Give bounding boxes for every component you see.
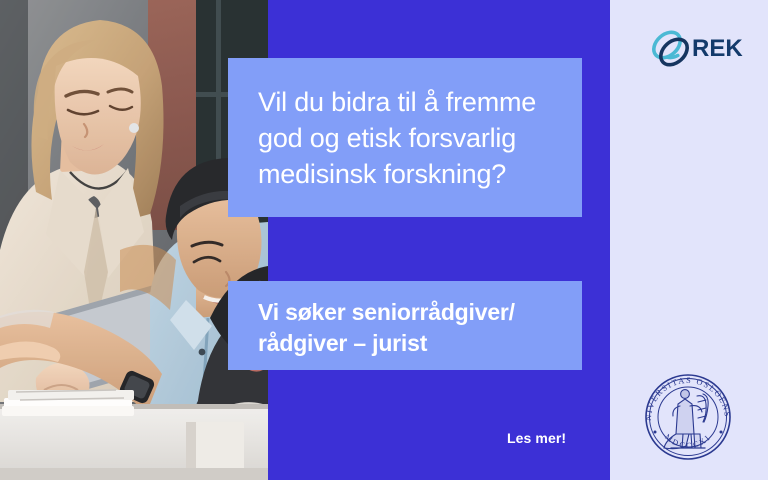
uio-seal: UNIVERSITAS OSLOENSIS MDCCCXI [633, 362, 743, 472]
headline-text: Vil du bidra til å fremme god og etisk f… [258, 84, 552, 192]
headline-box: Vil du bidra til å fremme god og etisk f… [228, 58, 582, 217]
rek-wordmark: REK [692, 35, 743, 63]
rek-logo[interactable]: REK [648, 26, 740, 72]
uio-seal-icon: UNIVERSITAS OSLOENSIS MDCCCXI [633, 362, 743, 472]
read-more-link[interactable]: Les mer! [507, 430, 566, 446]
job-title-box: Vi søker seniorrådgiver/ rådgiver – juri… [228, 281, 582, 370]
job-title-text: Vi søker seniorrådgiver/ rådgiver – juri… [258, 297, 552, 359]
interlocking-rings-icon [648, 26, 694, 72]
recruitment-banner: Vil du bidra til å fremme god og etisk f… [0, 0, 768, 480]
